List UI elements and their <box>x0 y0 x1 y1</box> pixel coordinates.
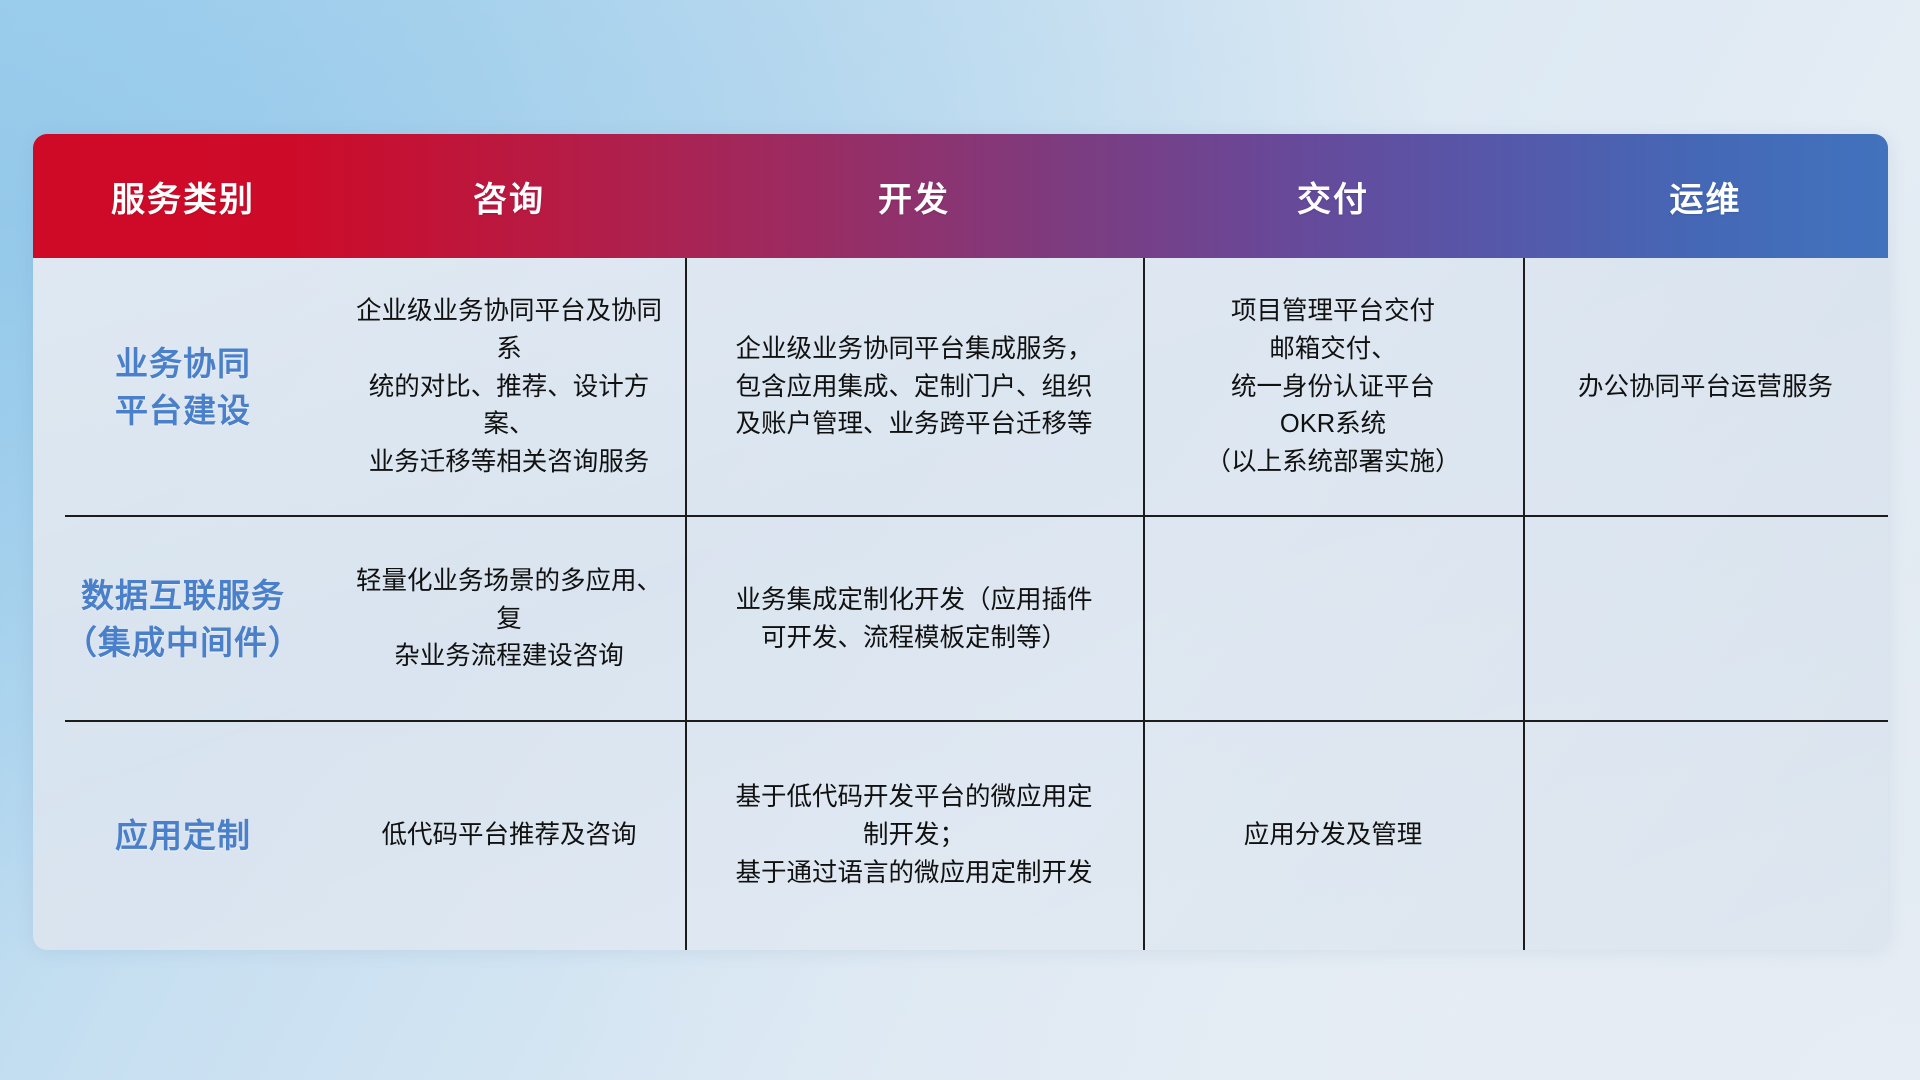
cell-operations <box>1523 517 1888 722</box>
cell-consulting: 低代码平台推荐及咨询 <box>333 722 685 950</box>
row-label-cell: 应用定制 <box>33 722 333 950</box>
cell-operations <box>1523 722 1888 950</box>
cell-consulting: 企业级业务协同平台及协同系 统的对比、推荐、设计方案、 业务迁移等相关咨询服务 <box>333 258 685 517</box>
service-matrix-table: 服务类别 咨询 开发 交付 运维 业务协同 平台建设 企业级业务协同平台及协同系… <box>33 134 1888 950</box>
cell-development: 企业级业务协同平台集成服务， 包含应用集成、定制门户、组织 及账户管理、业务跨平… <box>685 258 1143 517</box>
table-row: 数据互联服务 （集成中间件） 轻量化业务场景的多应用、复 杂业务流程建设咨询 业… <box>33 517 1888 722</box>
row-label-cell: 业务协同 平台建设 <box>33 258 333 517</box>
slide-canvas: 服务类别 咨询 开发 交付 运维 业务协同 平台建设 企业级业务协同平台及协同系… <box>0 0 1920 1080</box>
table-body: 业务协同 平台建设 企业级业务协同平台及协同系 统的对比、推荐、设计方案、 业务… <box>33 258 1888 950</box>
cell-development: 基于低代码开发平台的微应用定 制开发； 基于通过语言的微应用定制开发 <box>685 722 1143 950</box>
cell-delivery <box>1143 517 1523 722</box>
row-label-data-interconnect: 数据互联服务 （集成中间件） <box>64 573 302 667</box>
column-header-service-category: 服务类别 <box>33 172 333 221</box>
cell-operations: 办公协同平台运营服务 <box>1523 258 1888 517</box>
table-header-row: 服务类别 咨询 开发 交付 运维 <box>33 134 1888 258</box>
cell-delivery: 项目管理平台交付 邮箱交付、 统一身份认证平台 OKR系统 （以上系统部署实施） <box>1143 258 1523 517</box>
cell-delivery: 应用分发及管理 <box>1143 722 1523 950</box>
column-header-operations: 运维 <box>1523 172 1888 221</box>
table-row: 业务协同 平台建设 企业级业务协同平台及协同系 统的对比、推荐、设计方案、 业务… <box>33 258 1888 517</box>
table-row: 应用定制 低代码平台推荐及咨询 基于低代码开发平台的微应用定 制开发； 基于通过… <box>33 722 1888 950</box>
row-label-cell: 数据互联服务 （集成中间件） <box>33 517 333 722</box>
row-label-app-customization: 应用定制 <box>115 813 251 860</box>
row-label-business-collaboration: 业务协同 平台建设 <box>115 341 251 435</box>
cell-consulting: 轻量化业务场景的多应用、复 杂业务流程建设咨询 <box>333 517 685 722</box>
column-header-consulting: 咨询 <box>333 172 685 221</box>
cell-development: 业务集成定制化开发（应用插件 可开发、流程模板定制等） <box>685 517 1143 722</box>
column-header-delivery: 交付 <box>1143 172 1523 221</box>
column-header-development: 开发 <box>685 172 1143 221</box>
